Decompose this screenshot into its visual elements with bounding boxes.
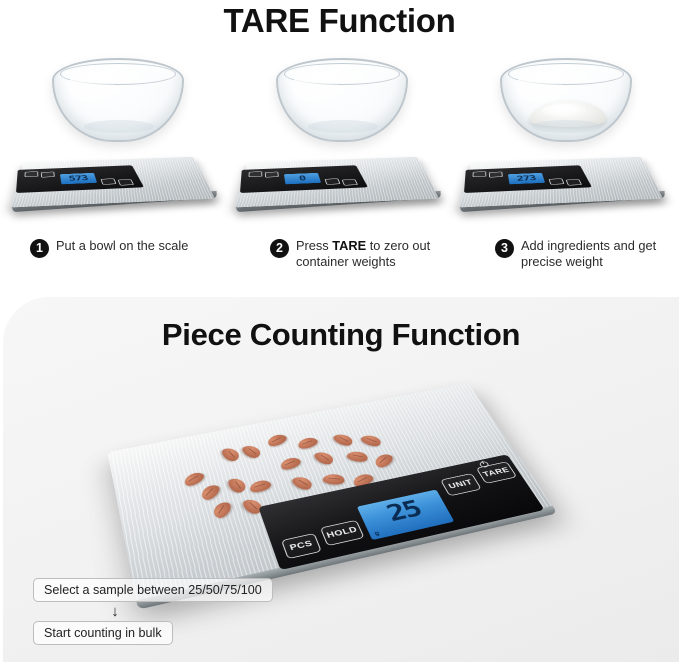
almond: [226, 476, 249, 494]
almond: [264, 432, 289, 448]
arrow-down-icon: ↓: [109, 604, 121, 619]
lcd-display: 0: [284, 173, 321, 184]
scale-figure-3: 273: [452, 52, 678, 232]
lcd-display: 273: [508, 173, 545, 184]
page-title: TARE Function: [0, 2, 679, 40]
button-icon[interactable]: [566, 179, 583, 185]
button-icon[interactable]: [549, 178, 565, 184]
step-text-before: Put a bowl on the scale: [56, 238, 188, 253]
button-icon[interactable]: [265, 172, 279, 178]
glass-bowl: [276, 58, 408, 142]
step-2: 2 Press TARE to zero out container weigh…: [270, 238, 470, 271]
bowl-highlight: [292, 72, 338, 102]
button-icon[interactable]: [342, 179, 359, 185]
lcd-unit-label: g: [374, 531, 381, 537]
lcd-value-large: 25: [358, 493, 449, 532]
step-label: Press TARE to zero out container weights: [296, 238, 470, 271]
lcd-display-large: 25 g: [357, 490, 455, 541]
step-label: Add ingredients and get precise weight: [521, 238, 679, 271]
almond: [198, 483, 223, 501]
button-icon[interactable]: [101, 178, 117, 184]
scale-figure-2: 0: [228, 52, 454, 232]
piece-counting-section: Piece Counting Function: [3, 297, 679, 662]
almond: [278, 456, 304, 472]
step-3: 3 Add ingredients and get precise weight: [495, 238, 679, 271]
button-icon[interactable]: [41, 172, 55, 178]
callout-group: Select a sample between 25/50/75/100 ↓ S…: [33, 578, 333, 645]
step-caption-row: 1 Put a bowl on the scale 2 Press TARE t…: [0, 238, 679, 294]
step-number-badge: 3: [495, 239, 514, 258]
ingredient-powder: [530, 101, 606, 127]
unit-button[interactable]: UNIT: [440, 473, 482, 496]
glass-bowl: [52, 58, 184, 142]
almond: [322, 473, 345, 485]
step-number-badge: 1: [30, 239, 49, 258]
lcd-value: 0: [298, 175, 306, 182]
step-text-bold: TARE: [332, 238, 366, 253]
bowl-highlight: [68, 72, 114, 102]
button-icon[interactable]: [489, 172, 503, 178]
almond: [247, 478, 273, 494]
lcd-value: 573: [68, 175, 88, 182]
callout-select-sample: Select a sample between 25/50/75/100: [33, 578, 273, 602]
kitchen-scale-large: PCS HOLD UNIT TARE 25 g: [108, 383, 556, 605]
bowl-highlight: [516, 72, 562, 102]
button-icon[interactable]: [325, 178, 341, 184]
callout-start-counting: Start counting in bulk: [33, 621, 173, 645]
step-label: Put a bowl on the scale: [56, 238, 188, 254]
almond: [295, 436, 320, 451]
step-text-before: Add ingredients and get precise weight: [521, 238, 656, 269]
pcs-button[interactable]: PCS: [281, 533, 322, 559]
step-number-badge: 2: [270, 239, 289, 258]
lcd-display: 573: [60, 173, 97, 184]
almond: [239, 443, 263, 460]
glass-bowl: [500, 58, 632, 142]
step-text-before: Press: [296, 238, 332, 253]
step-1: 1 Put a bowl on the scale: [30, 238, 240, 258]
button-icon[interactable]: [25, 171, 39, 177]
tare-function-section: TARE Function 573: [0, 0, 679, 295]
button-icon[interactable]: [249, 171, 263, 177]
button-icon[interactable]: [473, 171, 487, 177]
lcd-value: 273: [516, 175, 536, 182]
button-icon[interactable]: [118, 179, 135, 185]
almond: [181, 470, 207, 488]
section-title: Piece Counting Function: [3, 317, 679, 353]
almond: [289, 474, 315, 491]
almond: [210, 501, 234, 520]
almond: [331, 432, 356, 448]
almond: [312, 450, 337, 467]
almond: [219, 446, 242, 463]
almond: [345, 450, 369, 463]
scale-figure-1: 573: [4, 52, 230, 232]
tare-scale-row: 573 0: [0, 52, 679, 232]
hold-button[interactable]: HOLD: [320, 520, 365, 546]
